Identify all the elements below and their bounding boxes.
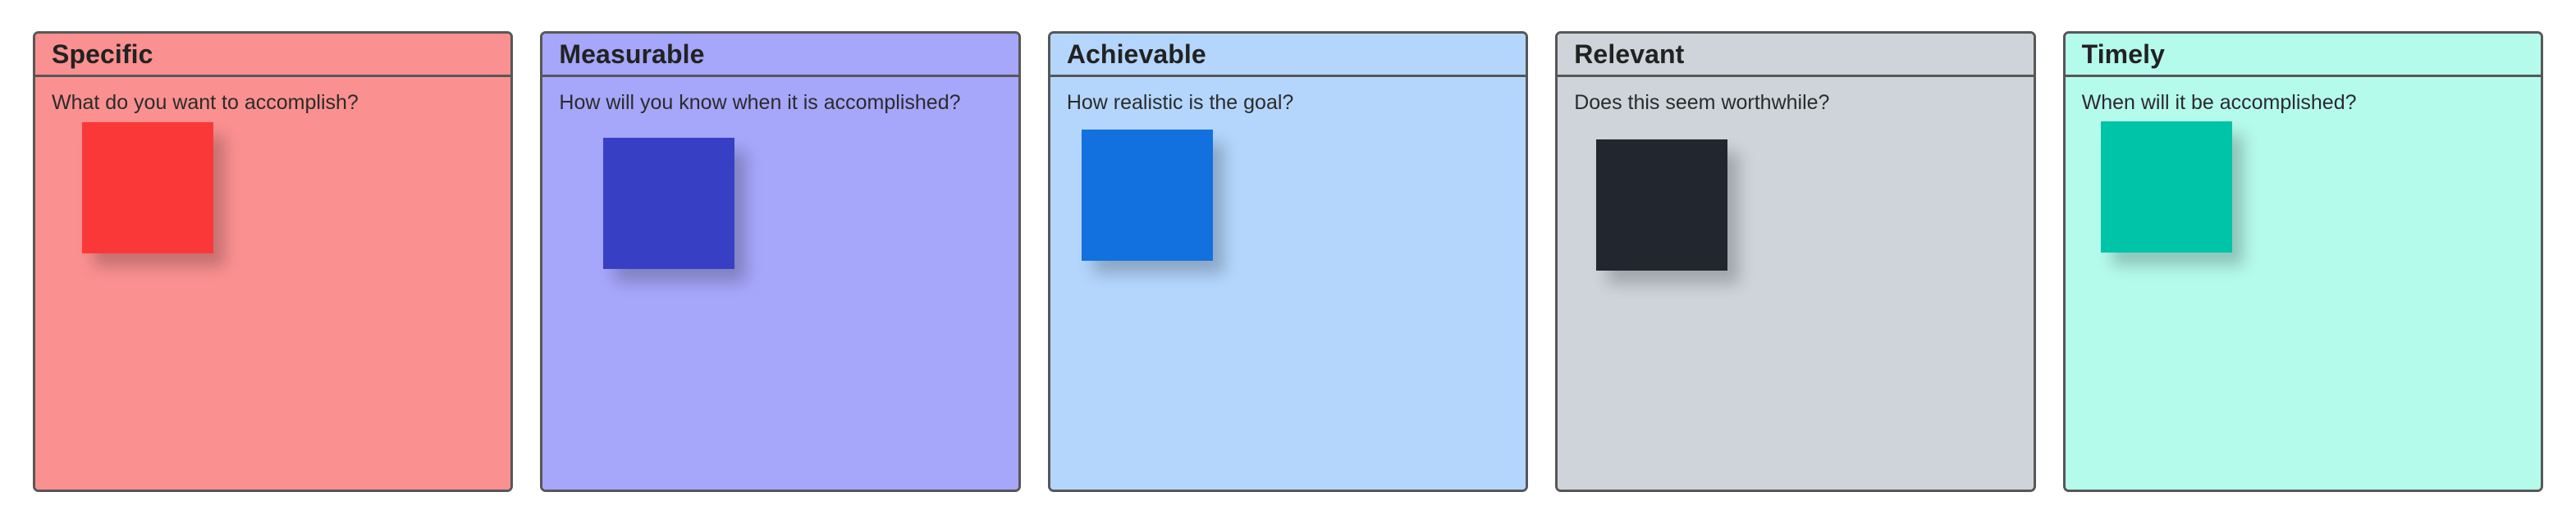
card-body-specific[interactable]: What do you want to accomplish? bbox=[35, 77, 510, 490]
card-timely[interactable]: Timely When will it be accomplished? bbox=[2063, 31, 2543, 492]
card-header-timely: Timely bbox=[2066, 34, 2541, 77]
card-title-specific: Specific bbox=[52, 41, 153, 67]
card-question-measurable: How will you know when it is accomplishe… bbox=[559, 91, 1001, 115]
achievable-sticky-note[interactable] bbox=[1082, 130, 1213, 261]
relevant-sticky-note[interactable] bbox=[1596, 139, 1727, 271]
card-header-specific: Specific bbox=[35, 34, 510, 77]
card-body-relevant[interactable]: Does this seem worthwhile? bbox=[1558, 77, 2033, 490]
timely-sticky-note[interactable] bbox=[2101, 121, 2232, 253]
card-relevant[interactable]: Relevant Does this seem worthwhile? bbox=[1555, 31, 2035, 492]
smart-goals-board: Specific What do you want to accomplish?… bbox=[0, 0, 2576, 524]
card-specific[interactable]: Specific What do you want to accomplish? bbox=[33, 31, 513, 492]
measurable-sticky-note[interactable] bbox=[603, 138, 734, 269]
card-title-achievable: Achievable bbox=[1067, 41, 1206, 67]
card-header-achievable: Achievable bbox=[1050, 34, 1526, 77]
card-question-achievable: How realistic is the goal? bbox=[1067, 91, 1509, 115]
card-header-relevant: Relevant bbox=[1558, 34, 2033, 77]
card-question-specific: What do you want to accomplish? bbox=[52, 91, 494, 115]
card-question-relevant: Does this seem worthwhile? bbox=[1574, 91, 2016, 115]
card-question-timely: When will it be accomplished? bbox=[2082, 91, 2524, 115]
specific-sticky-note[interactable] bbox=[82, 122, 213, 253]
card-measurable[interactable]: Measurable How will you know when it is … bbox=[540, 31, 1020, 492]
card-achievable[interactable]: Achievable How realistic is the goal? bbox=[1048, 31, 1528, 492]
card-body-measurable[interactable]: How will you know when it is accomplishe… bbox=[542, 77, 1018, 490]
card-header-measurable: Measurable bbox=[542, 34, 1018, 77]
card-title-measurable: Measurable bbox=[559, 41, 704, 67]
card-title-timely: Timely bbox=[2082, 41, 2165, 67]
card-body-timely[interactable]: When will it be accomplished? bbox=[2066, 77, 2541, 490]
card-body-achievable[interactable]: How realistic is the goal? bbox=[1050, 77, 1526, 490]
card-title-relevant: Relevant bbox=[1574, 41, 1684, 67]
